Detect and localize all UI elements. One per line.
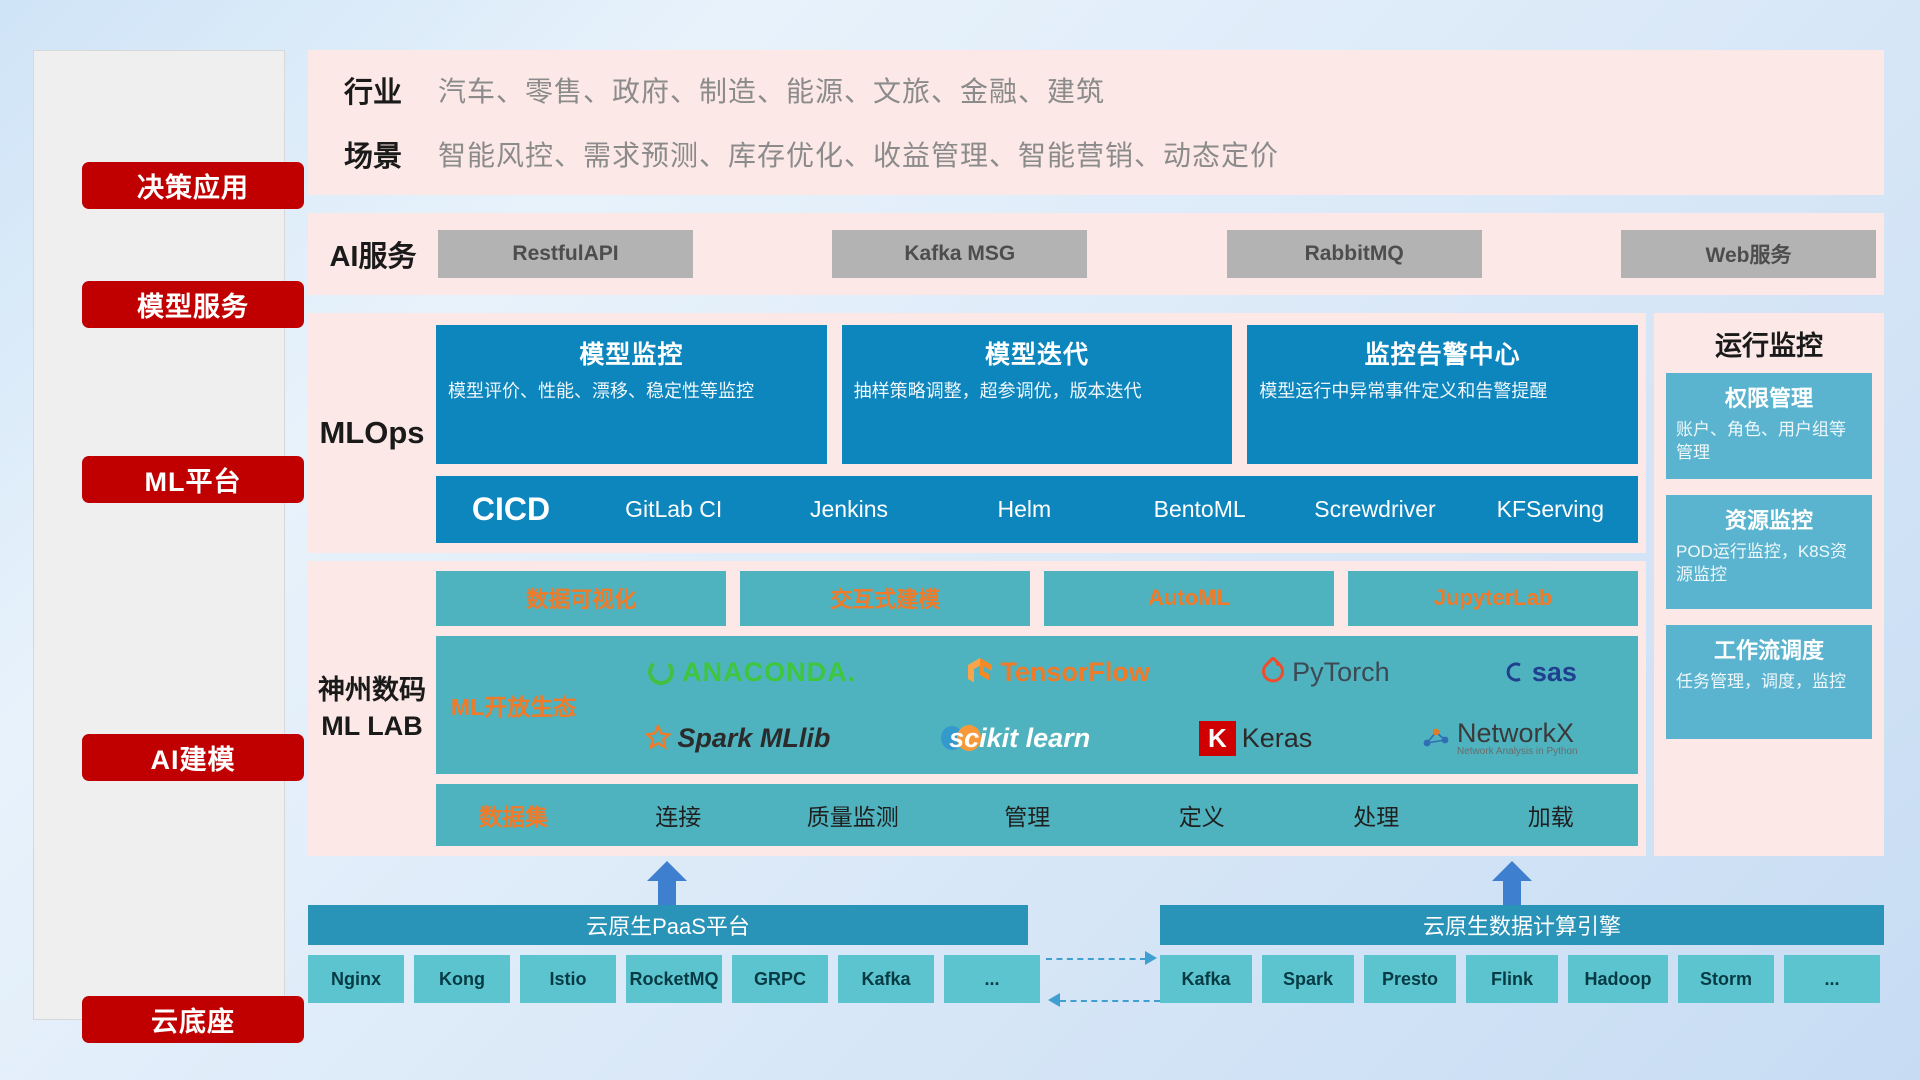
- ai-service-item-web-service[interactable]: Web服务: [1621, 230, 1876, 278]
- cloud-chip-nginx[interactable]: Nginx: [308, 955, 404, 1003]
- cicd-tool-kfserving[interactable]: KFServing: [1463, 497, 1638, 521]
- keras-logo-mark: K: [1199, 721, 1236, 756]
- mlops-card-desc: 模型评价、性能、漂移、稳定性等监控: [448, 379, 815, 403]
- mlops-card-title: 模型监控: [448, 335, 815, 371]
- scenario-label: 场景: [308, 133, 438, 175]
- layer-chip-ai-modeling[interactable]: AI建模: [82, 734, 304, 781]
- cloud-chip-spark[interactable]: Spark: [1262, 955, 1354, 1003]
- cicd-label: CICD: [436, 491, 586, 528]
- ml-lab-label-line2: ML LAB: [321, 709, 423, 744]
- scikit-learn-logo: scikit learn: [939, 723, 1090, 754]
- cloud-chip-presto[interactable]: Presto: [1364, 955, 1456, 1003]
- dataset-label: 数据集: [436, 798, 591, 832]
- layer-rail: 决策应用 模型服务 ML平台 AI建模 云底座: [33, 50, 285, 1020]
- ai-service-band: AI服务 RestfulAPI Kafka MSG RabbitMQ Web服务: [308, 213, 1884, 295]
- lab-chip-data-visualization[interactable]: 数据可视化: [436, 571, 726, 626]
- cloud-chip-rocketmq[interactable]: RocketMQ: [626, 955, 722, 1003]
- industry-value: 汽车、零售、政府、制造、能源、文旅、金融、建筑: [438, 70, 1105, 110]
- cicd-tool-bentoml[interactable]: BentoML: [1112, 497, 1287, 521]
- networkx-logo: NetworkX Network Analysis in Python: [1421, 720, 1578, 757]
- ml-open-ecosystem-label: ML开放生态: [436, 688, 591, 722]
- scenario-value: 智能风控、需求预测、库存优化、收益管理、智能营销、动态定价: [438, 134, 1279, 174]
- layer-chip-cloud-base[interactable]: 云底座: [82, 996, 304, 1043]
- mlops-card-model-iteration[interactable]: 模型迭代 抽样策略调整，超参调优，版本迭代: [842, 325, 1233, 464]
- cloud-chip-storm[interactable]: Storm: [1678, 955, 1774, 1003]
- lab-chip-automl[interactable]: AutoML: [1044, 571, 1334, 626]
- sas-logo: sas: [1500, 657, 1577, 688]
- mlops-card-desc: 模型运行中异常事件定义和告警提醒: [1259, 379, 1626, 403]
- upward-arrow-right: [1490, 861, 1534, 907]
- anaconda-logo: ANACONDA.: [646, 657, 856, 688]
- upward-arrow-left: [645, 861, 689, 907]
- pytorch-logo: PyTorch: [1260, 657, 1390, 688]
- ops-card-title: 权限管理: [1676, 381, 1862, 413]
- layer-chip-ml-platform[interactable]: ML平台: [82, 456, 304, 503]
- cloud-chip-istio[interactable]: Istio: [520, 955, 616, 1003]
- cloud-chip-kong[interactable]: Kong: [414, 955, 510, 1003]
- dashed-connector-left: [1060, 1000, 1160, 1002]
- cloud-chip-flink[interactable]: Flink: [1466, 955, 1558, 1003]
- cloud-chip-hadoop[interactable]: Hadoop: [1568, 955, 1668, 1003]
- networkx-logo-text: NetworkX: [1457, 720, 1578, 747]
- dataset-step-quality-monitor[interactable]: 质量监测: [766, 798, 941, 832]
- cloud-chip-kafka-right[interactable]: Kafka: [1160, 955, 1252, 1003]
- pytorch-logo-text: PyTorch: [1292, 657, 1390, 688]
- industry-row: 行业 汽车、零售、政府、制造、能源、文旅、金融、建筑: [308, 58, 1884, 122]
- dataset-step-load[interactable]: 加载: [1464, 798, 1639, 832]
- mlops-band: MLOps 模型监控 模型评价、性能、漂移、稳定性等监控 模型迭代 抽样策略调整…: [308, 313, 1646, 553]
- mlops-card-alert-center[interactable]: 监控告警中心 模型运行中异常事件定义和告警提醒: [1247, 325, 1638, 464]
- scenario-row: 场景 智能风控、需求预测、库存优化、收益管理、智能营销、动态定价: [308, 122, 1884, 186]
- ai-service-label: AI服务: [308, 233, 438, 275]
- cicd-row: CICD GitLab CI Jenkins Helm BentoML Scre…: [436, 476, 1638, 543]
- mlops-card-title: 监控告警中心: [1259, 335, 1626, 371]
- dataset-row: 数据集 连接 质量监测 管理 定义 处理 加载: [436, 784, 1638, 846]
- architecture-diagram: 决策应用 模型服务 ML平台 AI建模 云底座 行业 汽车、零售、政府、制造、能…: [0, 0, 1920, 1080]
- cloud-chip-kafka[interactable]: Kafka: [838, 955, 934, 1003]
- industry-label: 行业: [308, 69, 438, 111]
- cloud-chip-more-left[interactable]: ...: [944, 955, 1040, 1003]
- ai-service-item-rabbitmq[interactable]: RabbitMQ: [1227, 230, 1482, 278]
- ops-card-permission-management[interactable]: 权限管理 账户、角色、用户组等管理: [1666, 373, 1872, 479]
- scikit-learn-logo-text: scikit learn: [949, 723, 1090, 754]
- ai-modeling-band: 神州数码 ML LAB 数据可视化 交互式建模 AutoML JupyterLa…: [308, 561, 1646, 856]
- mlops-card-desc: 抽样策略调整，超参调优，版本迭代: [854, 379, 1221, 403]
- ops-monitor-panel: 运行监控 权限管理 账户、角色、用户组等管理 资源监控 POD运行监控，K8S资…: [1654, 313, 1884, 856]
- dashed-arrowhead-right: [1145, 951, 1157, 965]
- keras-logo-text: Keras: [1242, 723, 1313, 754]
- dataset-step-define[interactable]: 定义: [1115, 798, 1290, 832]
- ops-card-title: 资源监控: [1676, 503, 1862, 535]
- mlops-card-model-monitor[interactable]: 模型监控 模型评价、性能、漂移、稳定性等监控: [436, 325, 827, 464]
- ops-card-desc: POD运行监控，K8S资源监控: [1676, 541, 1862, 587]
- cicd-tool-jenkins[interactable]: Jenkins: [761, 497, 936, 521]
- dataset-step-connect[interactable]: 连接: [591, 798, 766, 832]
- dataset-step-manage[interactable]: 管理: [940, 798, 1115, 832]
- ml-lab-label: 神州数码 ML LAB: [308, 561, 436, 856]
- tensorflow-logo-text: TensorFlow: [1000, 657, 1150, 688]
- ops-card-desc: 账户、角色、用户组等管理: [1676, 419, 1862, 465]
- sas-logo-text: sas: [1532, 657, 1577, 688]
- dataset-step-process[interactable]: 处理: [1289, 798, 1464, 832]
- ops-monitor-title: 运行监控: [1654, 313, 1884, 373]
- decision-application-band: 行业 汽车、零售、政府、制造、能源、文旅、金融、建筑 场景 智能风控、需求预测、…: [308, 50, 1884, 195]
- spark-mllib-logo-text: Spark MLlib: [677, 723, 830, 754]
- dashed-arrowhead-left: [1048, 993, 1060, 1007]
- lab-chip-interactive-modeling[interactable]: 交互式建模: [740, 571, 1030, 626]
- mlops-card-title: 模型迭代: [854, 335, 1221, 371]
- ml-lab-label-line1: 神州数码: [318, 673, 426, 708]
- cicd-tool-helm[interactable]: Helm: [937, 497, 1112, 521]
- cicd-tool-screwdriver[interactable]: Screwdriver: [1287, 497, 1462, 521]
- cloud-data-engine-title: 云原生数据计算引擎: [1160, 905, 1884, 945]
- cloud-paas-chip-row: Nginx Kong Istio RocketMQ GRPC Kafka ...: [308, 955, 1040, 1003]
- cloud-data-engine-chip-row: Kafka Spark Presto Flink Hadoop Storm ..…: [1160, 955, 1880, 1003]
- layer-chip-model-service[interactable]: 模型服务: [82, 281, 304, 328]
- spark-mllib-logo: Spark MLlib: [645, 723, 830, 754]
- networkx-logo-subtext: Network Analysis in Python: [1457, 747, 1578, 757]
- ops-card-title: 工作流调度: [1676, 633, 1862, 665]
- cloud-chip-more-right[interactable]: ...: [1784, 955, 1880, 1003]
- ai-service-item-restfulapi[interactable]: RestfulAPI: [438, 230, 693, 278]
- anaconda-logo-text: ANACONDA.: [682, 657, 856, 688]
- mlops-label: MLOps: [308, 313, 436, 553]
- keras-logo: K Keras: [1199, 721, 1312, 756]
- layer-chip-decision-app[interactable]: 决策应用: [82, 162, 304, 209]
- tensorflow-logo: TensorFlow: [966, 656, 1150, 688]
- ml-open-ecosystem: ML开放生态 ANACONDA. TensorFlow: [436, 636, 1638, 775]
- cicd-tool-gitlab-ci[interactable]: GitLab CI: [586, 497, 761, 521]
- cloud-chip-grpc[interactable]: GRPC: [732, 955, 828, 1003]
- ops-card-workflow-scheduling[interactable]: 工作流调度 任务管理，调度，监控: [1666, 625, 1872, 739]
- ops-card-desc: 任务管理，调度，监控: [1676, 671, 1862, 694]
- lab-chip-jupyterlab[interactable]: JupyterLab: [1348, 571, 1638, 626]
- cloud-paas-title: 云原生PaaS平台: [308, 905, 1028, 945]
- ai-service-item-kafka-msg[interactable]: Kafka MSG: [832, 230, 1087, 278]
- dashed-connector-right: [1046, 958, 1146, 960]
- ops-card-resource-monitor[interactable]: 资源监控 POD运行监控，K8S资源监控: [1666, 495, 1872, 609]
